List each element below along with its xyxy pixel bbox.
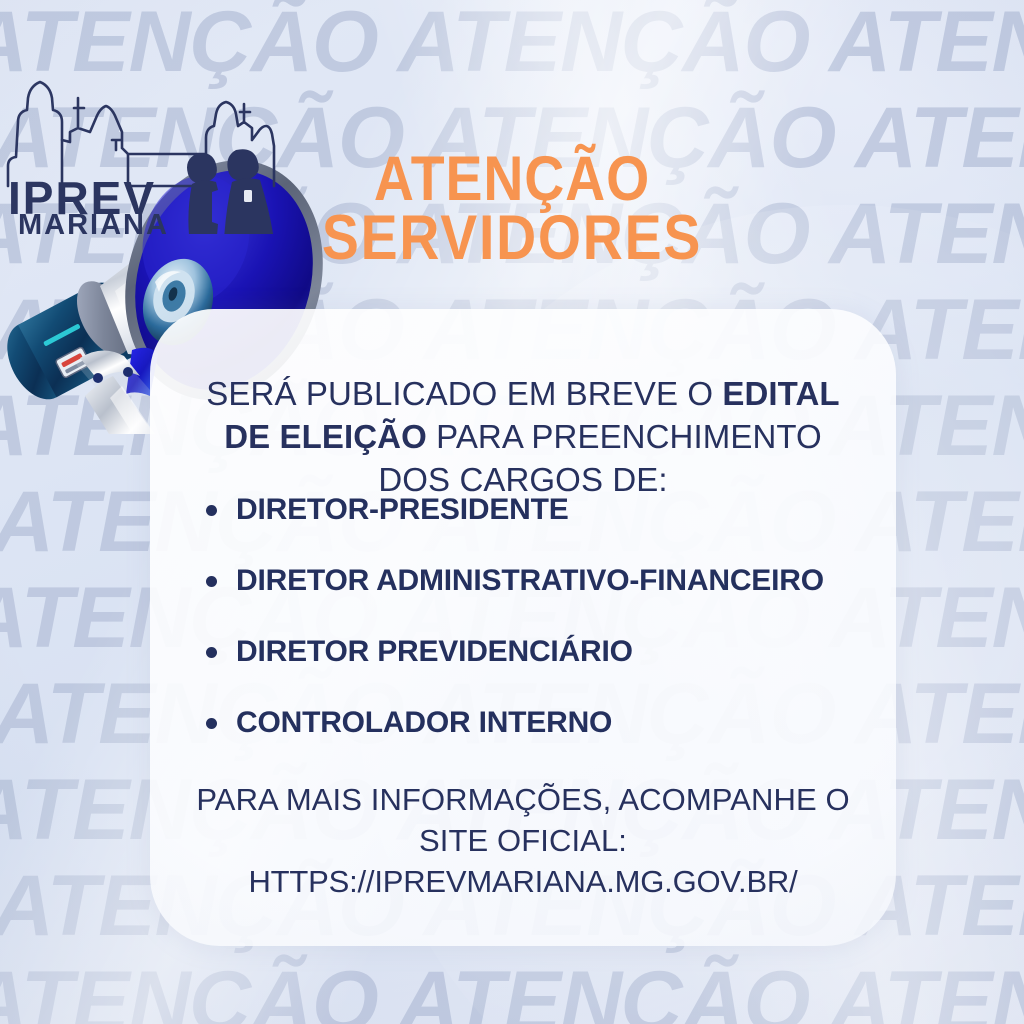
svg-text:MARIANA: MARIANA (18, 209, 169, 234)
intro-text: SERÁ PUBLICADO EM BREVE O EDITAL DE ELEI… (186, 373, 860, 502)
watermark-line: ATENÇÃO ATENÇÃO ATENÇÃO (0, 954, 1024, 1024)
headline: ATENÇÃO SERVIDORES (318, 150, 705, 267)
intro-part-1: SERÁ PUBLICADO EM BREVE O (206, 375, 722, 412)
roles-list: DIRETOR-PRESIDENTEDIRETOR ADMINISTRATIVO… (184, 495, 874, 779)
bullet-icon (206, 505, 217, 516)
poster-canvas: ATENÇÃO ATENÇÃO ATENÇÃO ATENÇÃO ATENÇÃO … (0, 0, 1024, 1024)
role-label: DIRETOR PREVIDENCIÁRIO (236, 635, 633, 668)
two-people-silhouette (187, 149, 274, 234)
official-site-url[interactable]: HTTPS://IPREVMARIANA.MG.GOV.BR/ (180, 862, 866, 903)
role-list-item: DIRETOR-PRESIDENTE (184, 495, 874, 525)
role-label: DIRETOR-PRESIDENTE (236, 493, 569, 526)
role-list-item: DIRETOR ADMINISTRATIVO-FINANCEIRO (184, 566, 874, 596)
role-list-item: DIRETOR PREVIDENCIÁRIO (184, 637, 874, 667)
footer-line-1: PARA MAIS INFORMAÇÕES, ACOMPANHE O (196, 782, 849, 817)
footer-text: PARA MAIS INFORMAÇÕES, ACOMPANHE O SITE … (180, 780, 866, 903)
bullet-icon (206, 647, 217, 658)
footer-line-2: SITE OFICIAL: (419, 823, 627, 858)
headline-line-2: SERVIDORES (318, 209, 705, 268)
role-label: DIRETOR ADMINISTRATIVO-FINANCEIRO (236, 564, 824, 597)
bullet-icon (206, 718, 217, 729)
role-list-item: CONTROLADOR INTERNO (184, 708, 874, 738)
content-card: SERÁ PUBLICADO EM BREVE O EDITAL DE ELEI… (150, 309, 896, 946)
iprev-mariana-logo: IPREV MARIANA (0, 62, 282, 234)
role-label: CONTROLADOR INTERNO (236, 706, 612, 739)
iprev-wordmark: IPREV MARIANA (8, 172, 169, 234)
intro-part-2: PARA PREENCHIMENTO DOS CARGOS DE: (378, 418, 821, 498)
bullet-icon (206, 576, 217, 587)
